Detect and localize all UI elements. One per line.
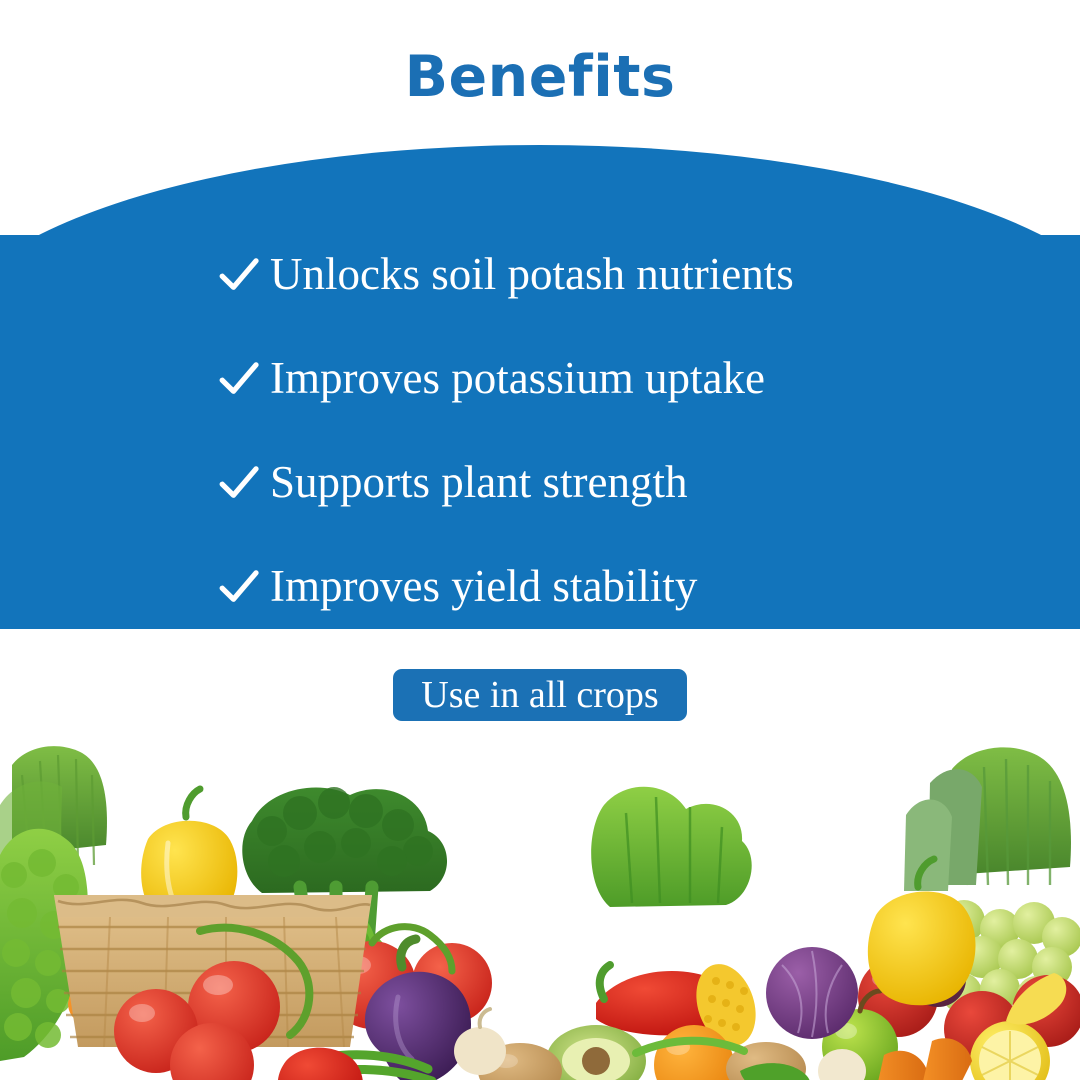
produce-illustration <box>0 735 1080 1080</box>
list-item-label: Unlocks soil potash nutrients <box>270 250 794 300</box>
benefits-list: Unlocks soil potash nutrients Improves p… <box>0 223 1080 639</box>
produce-image <box>0 735 1080 1080</box>
list-item: Supports plant strength <box>0 431 1080 535</box>
check-icon <box>216 564 262 610</box>
list-item-label: Improves yield stability <box>270 562 697 612</box>
benefits-panel: Unlocks soil potash nutrients Improves p… <box>0 145 1080 629</box>
status-badge: Use in all crops <box>393 669 687 721</box>
check-icon <box>216 356 262 402</box>
page-title: Benefits <box>0 48 1080 108</box>
list-item: Unlocks soil potash nutrients <box>0 223 1080 327</box>
list-item: Improves potassium uptake <box>0 327 1080 431</box>
check-icon <box>216 252 262 298</box>
list-item-label: Supports plant strength <box>270 458 687 508</box>
list-item-label: Improves potassium uptake <box>270 354 765 404</box>
red-cabbage <box>766 947 858 1039</box>
check-icon <box>216 460 262 506</box>
benefits-infographic: Benefits Unlocks soil potash nutrients I… <box>0 0 1080 1080</box>
status-badge-label: Use in all crops <box>421 676 658 714</box>
list-item: Improves yield stability <box>0 535 1080 639</box>
